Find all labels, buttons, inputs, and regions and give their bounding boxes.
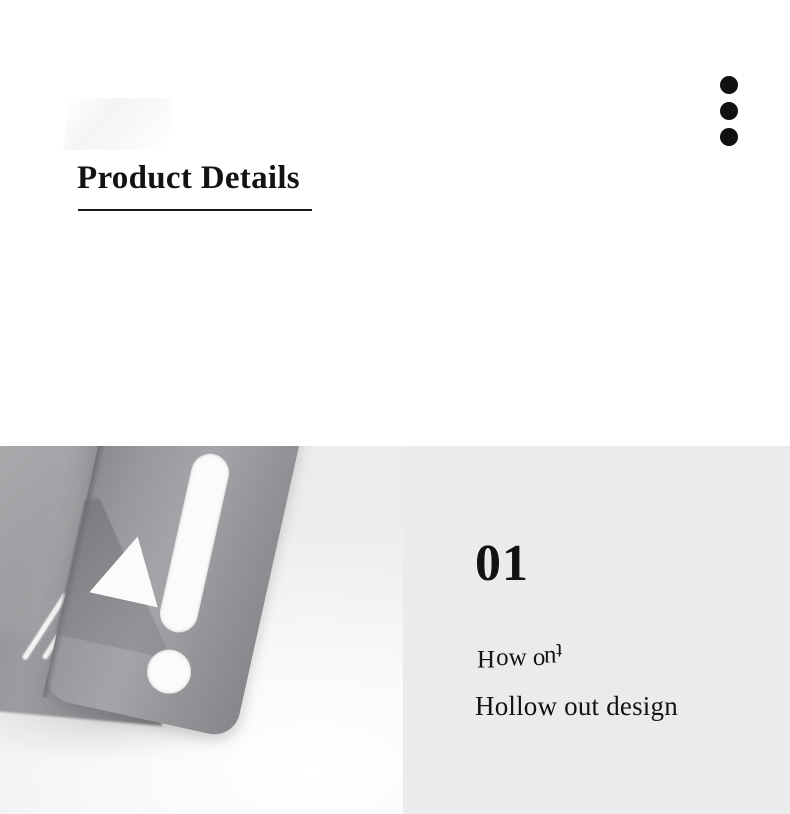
caption-glyph-a: H [477,644,495,672]
page-header: Product Details [0,0,790,446]
kebab-dot-2 [720,102,738,120]
cutout-rounded-slot [156,450,232,636]
product-photo [0,446,403,814]
feature-caption-glitched: How out [477,644,562,676]
feature-caption: Hollow out design [475,691,678,722]
decorative-watermark [63,98,172,150]
feature-copy-panel: 01 How out Hollow out design [403,446,790,814]
kebab-dot-3 [720,128,738,146]
kebab-dot-1 [720,76,738,94]
product-details-page: Product Details 01 [0,0,790,814]
page-title: Product Details [77,160,300,197]
caption-glyph-d: t [556,638,562,664]
feature-number: 01 [475,538,529,590]
title-underline-rule [78,209,312,211]
caption-glyph-c: u [544,644,557,672]
kebab-menu-icon[interactable] [719,76,738,146]
feature-section-01: 01 How out Hollow out design [0,446,790,814]
caption-glyph-b: ow o [496,644,545,672]
